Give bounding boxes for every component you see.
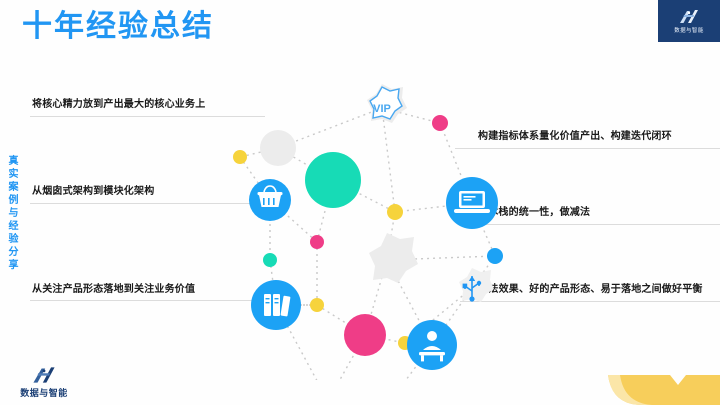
network-diagram: VIP [200, 60, 530, 380]
diagram-node-teal-large [305, 152, 361, 208]
diagram-node-books [251, 280, 301, 330]
brand-logo-text: 数据与智能 [674, 26, 704, 34]
brand-logo-text: 数据与智能 [20, 386, 68, 399]
person-desk-circle [407, 320, 457, 370]
diagram-node-person [407, 320, 457, 370]
vertical-caption: 真实案例与经验分享 [6, 155, 16, 272]
diagram-node-yellow-2 [387, 204, 403, 220]
insight-label-left-2: 从烟囱式架构到模块化架构 [32, 182, 154, 197]
diagram-node-gray-small [260, 130, 296, 166]
diagram-node-pink-large [344, 314, 386, 356]
diagram-node-yellow-3 [310, 298, 324, 312]
diagram-node-pink-mid [432, 115, 448, 131]
svg-text:VIP: VIP [373, 103, 391, 115]
diagram-node-blue-1 [487, 248, 503, 264]
diagram-node-laptop [446, 177, 498, 229]
brand-logo-bottom-left: 数据与智能 [8, 363, 80, 399]
page-title: 十年经验总结 [22, 10, 214, 43]
insight-label-left-1: 将核心精力放到产出最大的核心业务上 [32, 95, 205, 110]
diagram-node-basket [249, 179, 291, 221]
diagram-node-yellow-1 [233, 150, 247, 164]
diagram-node-pink-small [310, 235, 324, 249]
books-icon [264, 294, 291, 317]
diagram-node-usb [459, 268, 494, 302]
laptop-icon [454, 191, 490, 213]
brand-logo-top-right: 数据与智能 [658, 0, 720, 42]
diagram-node-teal-dot [263, 253, 277, 267]
presentation-slide: 十年经验总结 数据与智能 真实案例与经验分享 将核心精力放到产出最大的核心业务上… [0, 0, 720, 405]
diagram-node-gray-large [369, 233, 418, 283]
brand-mark-icon [677, 8, 701, 25]
gold-corner-accent [600, 357, 720, 405]
brand-mark-icon [29, 365, 59, 385]
insight-label-left-3: 从关注产品形态落地到关注业务价值 [32, 280, 195, 295]
diagram-node-vip: VIP [367, 84, 407, 123]
